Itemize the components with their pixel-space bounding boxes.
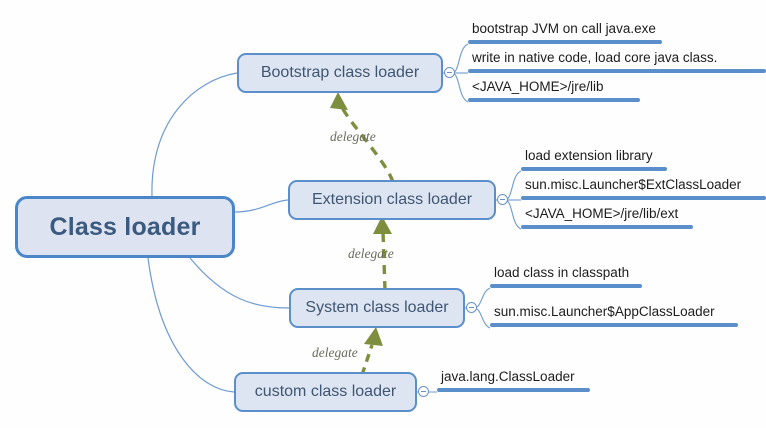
leaf-system-2[interactable]: sun.misc.Launcher$AppClassLoader: [490, 305, 738, 327]
node-custom-label: custom class loader: [255, 383, 396, 401]
leaf-system-2-rule: [490, 323, 738, 327]
leaf-bootstrap-1-rule: [468, 40, 662, 44]
leaf-extension-1-text: load extension library: [521, 149, 667, 167]
collapse-toggle-extension[interactable]: [497, 194, 508, 205]
node-extension-label: Extension class loader: [312, 191, 472, 209]
collapse-toggle-bootstrap[interactable]: [444, 67, 455, 78]
leaf-extension-1[interactable]: load extension library: [521, 149, 667, 171]
delegate-label-1: delegate: [330, 129, 376, 145]
leaf-extension-2-rule: [521, 196, 766, 200]
connector-system-leaf-2: [474, 308, 490, 328]
delegate-arrowhead-3: [364, 327, 383, 346]
collapse-toggle-custom[interactable]: [418, 386, 429, 397]
connector-bootstrap-leaf-1: [452, 44, 468, 73]
leaf-extension-3[interactable]: <JAVA_HOME>/jre/lib/ext: [521, 207, 693, 229]
connector-root-to-custom: [148, 258, 234, 392]
leaf-extension-1-rule: [521, 167, 667, 171]
leaf-custom-1-rule: [437, 388, 590, 392]
leaf-custom-1-text: java.lang.ClassLoader: [437, 370, 590, 388]
node-custom-class-loader[interactable]: custom class loader: [234, 372, 417, 412]
leaf-system-1-rule: [490, 284, 642, 288]
node-bootstrap-label: Bootstrap class loader: [261, 64, 419, 82]
connector-root-to-system: [190, 258, 289, 308]
connector-extension-leaf-1: [505, 171, 521, 200]
leaf-bootstrap-2[interactable]: write in native code, load core java cla…: [468, 51, 766, 73]
root-node-class-loader[interactable]: Class loader: [15, 196, 235, 258]
connector-root-to-bootstrap: [152, 73, 237, 196]
connector-root-to-extension: [235, 200, 288, 212]
leaf-bootstrap-3-text: <JAVA_HOME>/jre/lib: [468, 80, 640, 98]
leaf-bootstrap-2-rule: [468, 69, 766, 73]
delegate-label-3: delegate: [312, 345, 358, 361]
leaf-extension-3-rule: [521, 225, 693, 229]
connector-extension-leaf-3: [505, 200, 521, 229]
leaf-custom-1[interactable]: java.lang.ClassLoader: [437, 370, 590, 392]
leaf-bootstrap-3-rule: [468, 98, 640, 102]
leaf-system-1-text: load class in classpath: [490, 266, 642, 284]
leaf-bootstrap-3[interactable]: <JAVA_HOME>/jre/lib: [468, 80, 640, 102]
node-extension-class-loader[interactable]: Extension class loader: [288, 180, 496, 220]
leaf-system-2-text: sun.misc.Launcher$AppClassLoader: [490, 305, 738, 323]
leaf-system-1[interactable]: load class in classpath: [490, 266, 642, 288]
node-bootstrap-class-loader[interactable]: Bootstrap class loader: [237, 53, 443, 93]
leaf-bootstrap-1[interactable]: bootstrap JVM on call java.exe: [468, 22, 662, 44]
node-system-label: System class loader: [305, 299, 448, 317]
connector-bootstrap-leaf-3: [452, 73, 468, 102]
collapse-toggle-system[interactable]: [466, 302, 477, 313]
leaf-bootstrap-1-text: bootstrap JVM on call java.exe: [468, 22, 662, 40]
leaf-extension-2[interactable]: sun.misc.Launcher$ExtClassLoader: [521, 178, 766, 200]
delegate-arrowhead-1: [330, 92, 348, 110]
leaf-extension-2-text: sun.misc.Launcher$ExtClassLoader: [521, 178, 766, 196]
mindmap-canvas: Class loader Bootstrap class loader Exte…: [0, 0, 766, 428]
leaf-bootstrap-2-text: write in native code, load core java cla…: [468, 51, 766, 69]
delegate-label-2: delegate: [348, 246, 394, 262]
leaf-extension-3-text: <JAVA_HOME>/jre/lib/ext: [521, 207, 693, 225]
node-system-class-loader[interactable]: System class loader: [289, 288, 465, 328]
root-node-label: Class loader: [49, 213, 200, 242]
delegate-arrow-custom-to-system: [362, 345, 372, 375]
